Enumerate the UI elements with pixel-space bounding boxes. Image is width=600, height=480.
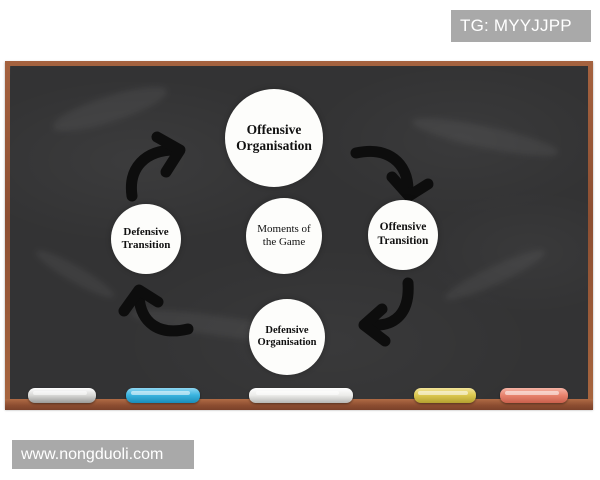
node-defensive-transition-label: Defensive Transition	[122, 226, 171, 252]
red-marker	[500, 388, 568, 403]
blue-marker	[126, 388, 200, 403]
telegram-channel-badge-text: TG: MYYJJPP	[460, 16, 572, 36]
node-defensive-organisation[interactable]: Defensive Organisation	[249, 299, 325, 375]
chalk-smudge	[441, 244, 548, 307]
yellow-marker	[414, 388, 476, 403]
node-offensive-organisation-label: Offensive Organisation	[236, 122, 312, 154]
silver-marker	[28, 388, 96, 403]
site-watermark-text: www.nongduoli.com	[21, 446, 163, 464]
node-offensive-transition-label: Offensive Transition	[378, 221, 429, 248]
chalk-smudge	[32, 245, 118, 304]
node-offensive-organisation[interactable]: Offensive Organisation	[225, 89, 323, 187]
node-offensive-transition[interactable]: Offensive Transition	[368, 200, 438, 270]
node-moments-of-the-game-label: Moments of the Game	[257, 223, 310, 249]
node-moments-of-the-game[interactable]: Moments of the Game	[246, 198, 322, 274]
white-marker	[249, 388, 353, 403]
telegram-channel-badge: TG: MYYJJPP	[451, 10, 591, 42]
node-defensive-organisation-label: Defensive Organisation	[258, 325, 317, 350]
site-watermark: www.nongduoli.com	[12, 440, 194, 469]
node-defensive-transition[interactable]: Defensive Transition	[111, 204, 181, 274]
chalk-smudge	[409, 111, 560, 164]
chalk-smudge	[49, 78, 171, 140]
